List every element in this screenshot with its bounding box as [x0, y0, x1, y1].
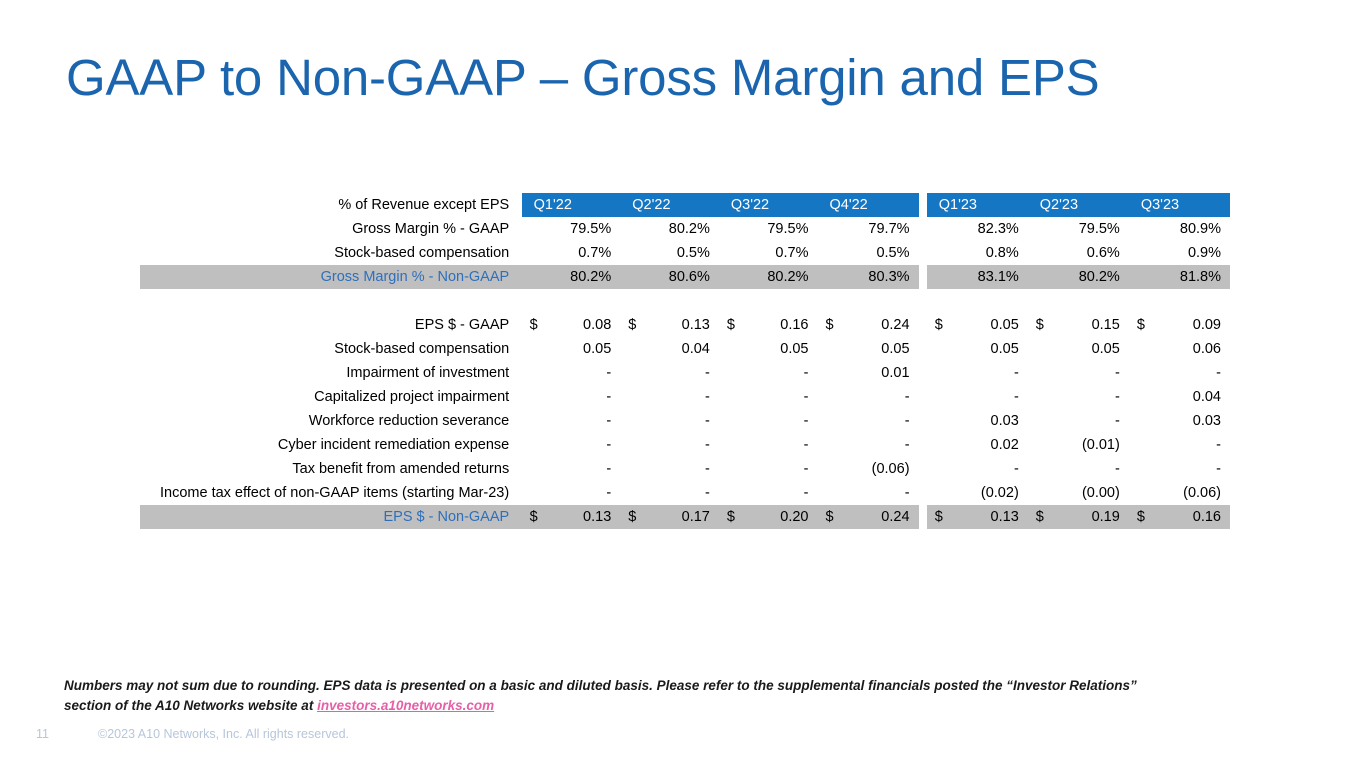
cell-value: 0.6% — [1028, 241, 1129, 265]
cell-value: 0.13 — [548, 505, 620, 529]
currency-symbol — [817, 337, 843, 361]
currency-symbol — [522, 337, 548, 361]
cell-value: 79.5% — [719, 217, 818, 241]
label-gap — [514, 313, 521, 337]
cell-value: 0.17 — [647, 505, 719, 529]
cell-value: - — [1155, 433, 1230, 457]
cell-value: (0.01) — [1054, 433, 1129, 457]
currency-symbol — [817, 481, 843, 505]
table-row: Tax benefit from amended returns---(0.06… — [140, 457, 1230, 481]
cell-value: - — [548, 433, 620, 457]
cell-value: - — [844, 409, 919, 433]
row-label: Impairment of investment — [140, 361, 514, 385]
cell-value: 0.04 — [1155, 385, 1230, 409]
currency-symbol — [620, 481, 646, 505]
cell-value: - — [844, 385, 919, 409]
table-row: Stock-based compensation0.7%0.5%0.7%0.5%… — [140, 241, 1230, 265]
currency-symbol — [620, 361, 646, 385]
year-block-gap — [919, 217, 927, 241]
currency-symbol — [1129, 361, 1155, 385]
cell-value: 0.19 — [1054, 505, 1129, 529]
currency-symbol — [927, 361, 953, 385]
cell-value: - — [844, 481, 919, 505]
year-block-gap — [919, 241, 927, 265]
page-title: GAAP to Non-GAAP – Gross Margin and EPS — [66, 47, 1099, 108]
cell-value: - — [647, 457, 719, 481]
cell-value: (0.06) — [1155, 481, 1230, 505]
cell-value: - — [1054, 409, 1129, 433]
currency-symbol — [1129, 433, 1155, 457]
label-gap — [514, 241, 521, 265]
copyright-text: ©2023 A10 Networks, Inc. All rights rese… — [98, 727, 349, 741]
row-label: Cyber incident remediation expense — [140, 433, 514, 457]
label-gap — [514, 505, 521, 529]
row-label: Tax benefit from amended returns — [140, 457, 514, 481]
currency-symbol — [1129, 409, 1155, 433]
cell-value: - — [745, 361, 817, 385]
cell-value: 79.5% — [1028, 217, 1129, 241]
cell-value: 0.24 — [844, 313, 919, 337]
cell-value: - — [647, 433, 719, 457]
currency-symbol — [719, 361, 745, 385]
column-header-q322[interactable]: Q3'22 — [719, 193, 818, 217]
cell-value: 0.05 — [548, 337, 620, 361]
currency-symbol — [1129, 457, 1155, 481]
currency-symbol — [1129, 337, 1155, 361]
currency-symbol — [817, 433, 843, 457]
table-row: Income tax effect of non-GAAP items (sta… — [140, 481, 1230, 505]
spacer-cell — [140, 289, 1230, 313]
cell-value: - — [953, 361, 1028, 385]
table-row: Workforce reduction severance----0.03-0.… — [140, 409, 1230, 433]
cell-value: 80.2% — [719, 265, 818, 289]
cell-value: 0.05 — [745, 337, 817, 361]
table-row: Gross Margin % - Non-GAAP80.2%80.6%80.2%… — [140, 265, 1230, 289]
investor-relations-link[interactable]: investors.a10networks.com — [317, 698, 494, 713]
label-gap — [514, 409, 521, 433]
cell-value: 0.7% — [522, 241, 621, 265]
year-block-gap — [919, 337, 927, 361]
year-block-gap — [919, 433, 927, 457]
table-row: Capitalized project impairment------0.04 — [140, 385, 1230, 409]
cell-value: (0.02) — [953, 481, 1028, 505]
cell-value: 79.7% — [817, 217, 918, 241]
cell-value: 0.8% — [927, 241, 1028, 265]
currency-symbol — [1129, 481, 1155, 505]
currency-symbol: $ — [817, 313, 843, 337]
cell-value: 0.04 — [647, 337, 719, 361]
currency-symbol — [719, 481, 745, 505]
label-gap — [514, 265, 521, 289]
cell-value: 82.3% — [927, 217, 1028, 241]
row-label: Workforce reduction severance — [140, 409, 514, 433]
table-row: Gross Margin % - GAAP79.5%80.2%79.5%79.7… — [140, 217, 1230, 241]
currency-symbol: $ — [522, 505, 548, 529]
table-row: EPS $ - Non-GAAP$0.13$0.17$0.20$0.24$0.1… — [140, 505, 1230, 529]
currency-symbol: $ — [927, 505, 953, 529]
column-header-q123[interactable]: Q1'23 — [927, 193, 1028, 217]
row-label: EPS $ - GAAP — [140, 313, 514, 337]
currency-symbol — [927, 409, 953, 433]
cell-value: 80.6% — [620, 265, 719, 289]
cell-value: - — [745, 457, 817, 481]
cell-value: 0.15 — [1054, 313, 1129, 337]
cell-value: - — [1054, 385, 1129, 409]
year-block-gap — [919, 409, 927, 433]
cell-value: 0.9% — [1129, 241, 1230, 265]
cell-value: - — [745, 433, 817, 457]
cell-value: - — [1054, 361, 1129, 385]
currency-symbol — [927, 457, 953, 481]
cell-value: 0.05 — [844, 337, 919, 361]
currency-symbol — [522, 361, 548, 385]
cell-value: - — [548, 457, 620, 481]
year-block-gap — [919, 481, 927, 505]
table-row: EPS $ - GAAP$0.08$0.13$0.16$0.24$0.05$0.… — [140, 313, 1230, 337]
cell-value: 0.09 — [1155, 313, 1230, 337]
year-block-gap — [919, 193, 927, 217]
currency-symbol — [620, 385, 646, 409]
currency-symbol — [927, 385, 953, 409]
cell-value: - — [745, 385, 817, 409]
cell-value: - — [647, 361, 719, 385]
cell-value: - — [1155, 457, 1230, 481]
page-number: 11 — [36, 727, 98, 741]
cell-value: - — [548, 481, 620, 505]
cell-value: - — [745, 409, 817, 433]
column-header-q122[interactable]: Q1'22 — [522, 193, 621, 217]
cell-value: 0.7% — [719, 241, 818, 265]
currency-symbol: $ — [1129, 313, 1155, 337]
row-label: Gross Margin % - GAAP — [140, 217, 514, 241]
cell-value: - — [953, 457, 1028, 481]
currency-symbol — [620, 337, 646, 361]
cell-value: 79.5% — [522, 217, 621, 241]
currency-symbol — [817, 409, 843, 433]
cell-value: 0.5% — [817, 241, 918, 265]
currency-symbol — [719, 409, 745, 433]
row-label: Capitalized project impairment — [140, 385, 514, 409]
cell-value: - — [1155, 361, 1230, 385]
table-row: Stock-based compensation0.050.040.050.05… — [140, 337, 1230, 361]
cell-value: 0.16 — [745, 313, 817, 337]
cell-value: 83.1% — [927, 265, 1028, 289]
table-row: Cyber incident remediation expense----0.… — [140, 433, 1230, 457]
currency-symbol: $ — [719, 313, 745, 337]
table-corner-label: % of Revenue except EPS — [140, 193, 514, 217]
label-gap — [514, 217, 521, 241]
currency-symbol: $ — [620, 505, 646, 529]
currency-symbol — [620, 409, 646, 433]
year-block-gap — [919, 313, 927, 337]
currency-symbol — [1028, 361, 1054, 385]
currency-symbol — [817, 385, 843, 409]
currency-symbol — [1129, 385, 1155, 409]
cell-value: 0.02 — [953, 433, 1028, 457]
cell-value: 80.2% — [1028, 265, 1129, 289]
currency-symbol — [719, 457, 745, 481]
cell-value: 0.24 — [844, 505, 919, 529]
cell-value: - — [1054, 457, 1129, 481]
cell-value: 0.03 — [1155, 409, 1230, 433]
label-gap — [514, 481, 521, 505]
cell-value: 0.05 — [953, 313, 1028, 337]
column-header-q223[interactable]: Q2'23 — [1028, 193, 1129, 217]
cell-value: 80.9% — [1129, 217, 1230, 241]
row-label: Stock-based compensation — [140, 241, 514, 265]
currency-symbol: $ — [817, 505, 843, 529]
cell-value: 0.05 — [953, 337, 1028, 361]
currency-symbol — [1028, 337, 1054, 361]
label-gap — [514, 337, 521, 361]
column-header-q222[interactable]: Q2'22 — [620, 193, 719, 217]
label-gap — [514, 361, 521, 385]
section-spacer — [140, 289, 1230, 313]
year-block-gap — [919, 457, 927, 481]
cell-value: (0.00) — [1054, 481, 1129, 505]
cell-value: 80.2% — [522, 265, 621, 289]
currency-symbol: $ — [1028, 313, 1054, 337]
cell-value: 80.3% — [817, 265, 918, 289]
cell-value: 80.2% — [620, 217, 719, 241]
currency-symbol — [1028, 385, 1054, 409]
currency-symbol — [927, 337, 953, 361]
cell-value: 0.03 — [953, 409, 1028, 433]
cell-value: - — [647, 409, 719, 433]
currency-symbol — [620, 433, 646, 457]
cell-value: 0.13 — [647, 313, 719, 337]
currency-symbol — [522, 481, 548, 505]
cell-value: 81.8% — [1129, 265, 1230, 289]
cell-value: - — [844, 433, 919, 457]
label-gap — [514, 457, 521, 481]
currency-symbol: $ — [927, 313, 953, 337]
cell-value: 0.16 — [1155, 505, 1230, 529]
footnote-text: Numbers may not sum due to rounding. EPS… — [64, 678, 1137, 713]
cell-value: 0.13 — [953, 505, 1028, 529]
column-header-q323[interactable]: Q3'23 — [1129, 193, 1230, 217]
row-label: Income tax effect of non-GAAP items (sta… — [140, 481, 514, 505]
cell-value: 0.05 — [1054, 337, 1129, 361]
table-row: Impairment of investment---0.01--- — [140, 361, 1230, 385]
currency-symbol — [817, 457, 843, 481]
cell-value: 0.5% — [620, 241, 719, 265]
cell-value: 0.01 — [844, 361, 919, 385]
currency-symbol — [522, 409, 548, 433]
cell-value: 0.20 — [745, 505, 817, 529]
currency-symbol: $ — [1028, 505, 1054, 529]
currency-symbol — [927, 433, 953, 457]
currency-symbol — [719, 337, 745, 361]
gaap-reconciliation-table: % of Revenue except EPSQ1'22Q2'22Q3'22Q4… — [140, 193, 1230, 529]
currency-symbol — [1028, 409, 1054, 433]
currency-symbol — [522, 385, 548, 409]
currency-symbol — [927, 481, 953, 505]
currency-symbol — [719, 433, 745, 457]
currency-symbol: $ — [719, 505, 745, 529]
label-gap — [514, 193, 521, 217]
cell-value: 0.08 — [548, 313, 620, 337]
year-block-gap — [919, 361, 927, 385]
currency-symbol — [522, 433, 548, 457]
currency-symbol: $ — [620, 313, 646, 337]
currency-symbol — [1028, 457, 1054, 481]
currency-symbol — [1028, 433, 1054, 457]
slide-footer: 11©2023 A10 Networks, Inc. All rights re… — [36, 727, 349, 741]
year-block-gap — [919, 505, 927, 529]
cell-value: 0.06 — [1155, 337, 1230, 361]
cell-value: (0.06) — [844, 457, 919, 481]
cell-value: - — [953, 385, 1028, 409]
column-header-q422[interactable]: Q4'22 — [817, 193, 918, 217]
cell-value: - — [548, 409, 620, 433]
year-block-gap — [919, 265, 927, 289]
currency-symbol — [1028, 481, 1054, 505]
table-header-row: % of Revenue except EPSQ1'22Q2'22Q3'22Q4… — [140, 193, 1230, 217]
row-label: EPS $ - Non-GAAP — [140, 505, 514, 529]
currency-symbol — [522, 457, 548, 481]
cell-value: - — [647, 385, 719, 409]
footnote: Numbers may not sum due to rounding. EPS… — [64, 676, 1184, 715]
label-gap — [514, 433, 521, 457]
currency-symbol — [620, 457, 646, 481]
currency-symbol — [719, 385, 745, 409]
row-label: Stock-based compensation — [140, 337, 514, 361]
row-label: Gross Margin % - Non-GAAP — [140, 265, 514, 289]
label-gap — [514, 385, 521, 409]
currency-symbol: $ — [522, 313, 548, 337]
cell-value: - — [745, 481, 817, 505]
cell-value: - — [548, 361, 620, 385]
currency-symbol: $ — [1129, 505, 1155, 529]
cell-value: - — [647, 481, 719, 505]
year-block-gap — [919, 385, 927, 409]
cell-value: - — [548, 385, 620, 409]
currency-symbol — [817, 361, 843, 385]
